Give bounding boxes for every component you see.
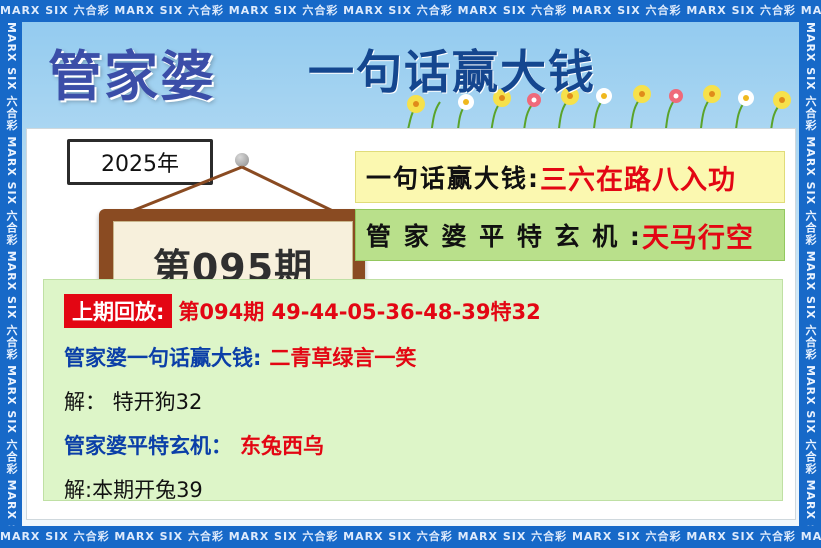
row-phrase-value: 三六在路八入功 (540, 158, 736, 197)
replay-tag: 上期回放: (64, 294, 172, 328)
row-xuanji-value: 天马行空 (642, 216, 754, 255)
marquee-text-right: MARX SIX 六合彩 MARX SIX 六合彩 MARX SIX 六合彩 M… (799, 22, 821, 526)
answer-1-text: 解： 特开狗32 (64, 386, 202, 416)
xuanji-label: 管家婆平特玄机： (64, 430, 232, 460)
marquee-text-left: MARX SIX 六合彩 MARX SIX 六合彩 MARX SIX 六合彩 M… (0, 22, 22, 526)
row-xuanji-highlight: 管 家 婆 平 特 玄 机 : 天马行空 (355, 209, 785, 261)
content-box: 上期回放: 第094期 49-44-05-36-48-39特32 管家婆一句话赢… (43, 279, 783, 501)
replay-line: 上期回放: 第094期 49-44-05-36-48-39特32 (64, 294, 762, 328)
page-title: 管家婆 一句话赢大钱 (40, 32, 680, 94)
marquee-band-top: MARX SIX 六合彩 MARX SIX 六合彩 MARX SIX 六合彩 M… (0, 0, 821, 22)
marquee-band-bottom: MARX SIX 六合彩 MARX SIX 六合彩 MARX SIX 六合彩 M… (0, 526, 821, 548)
title-slogan: 一句话赢大钱 (308, 36, 596, 102)
marquee-text-bottom: MARX SIX 六合彩 MARX SIX 六合彩 MARX SIX 六合彩 M… (0, 530, 821, 543)
phrase-value: 二青草绿言一笑 (269, 342, 416, 372)
row-phrase-highlight: 一句话赢大钱: 三六在路八入功 (355, 151, 785, 203)
marquee-band-right: MARX SIX 六合彩 MARX SIX 六合彩 MARX SIX 六合彩 M… (799, 22, 821, 526)
answer-line-2: 解:本期开兔39 (64, 474, 762, 504)
phrase-label: 管家婆一句话赢大钱: (64, 342, 261, 372)
marquee-band-left: MARX SIX 六合彩 MARX SIX 六合彩 MARX SIX 六合彩 M… (0, 22, 22, 526)
answer-2-text: 解:本期开兔39 (64, 474, 203, 504)
row-phrase-label: 一句话赢大钱: (366, 159, 540, 195)
row-xuanji-label: 管 家 婆 平 特 玄 机 : (366, 217, 642, 253)
xuanji-line: 管家婆平特玄机： 东兔西乌 (64, 430, 762, 460)
main-panel: 2025年 第095期 一句话赢大钱: 三六在路八入功 管 家 婆 平 特 玄 … (26, 128, 796, 520)
xuanji-value: 东兔西乌 (240, 430, 324, 460)
marquee-text-top: MARX SIX 六合彩 MARX SIX 六合彩 MARX SIX 六合彩 M… (0, 4, 821, 17)
replay-text: 第094期 49-44-05-36-48-39特32 (178, 296, 540, 326)
brand-name: 管家婆 (48, 32, 216, 111)
phrase-line: 管家婆一句话赢大钱: 二青草绿言一笑 (64, 342, 762, 372)
answer-line-1: 解： 特开狗32 (64, 386, 762, 416)
